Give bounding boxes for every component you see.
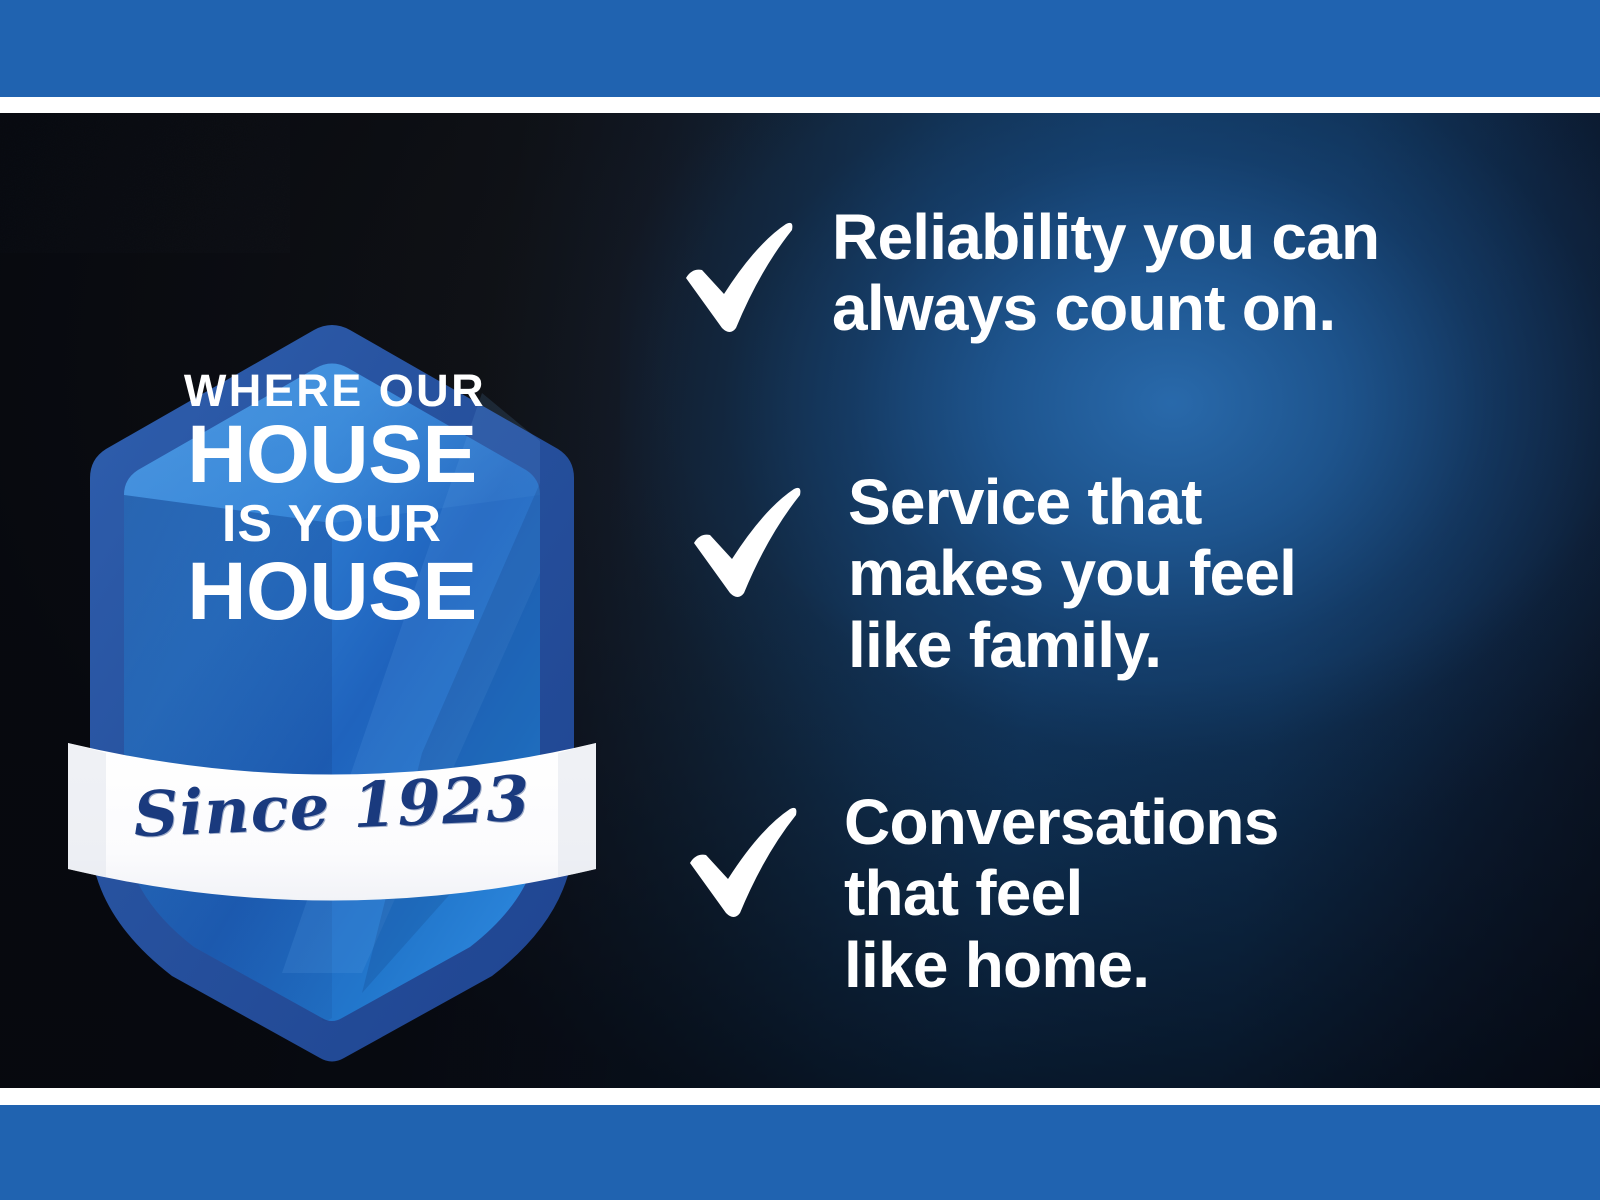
poster-stage: Where our House is your House Since 1923… [0, 113, 1600, 1088]
brand-bar-bottom [0, 1105, 1600, 1200]
divider-top [0, 97, 1600, 113]
divider-bottom [0, 1088, 1600, 1105]
check-icon [676, 483, 804, 601]
promo-poster: Where our House is your House Since 1923… [0, 0, 1600, 1200]
shield-ribbon-shadow-left [68, 743, 106, 877]
shield-ribbon-shadow-right [558, 743, 596, 877]
list-item-label: Service that makes you feel like family. [848, 467, 1296, 681]
list-item: Conversations that feel like home. [672, 793, 1279, 1001]
list-item-label: Reliability you can always count on. [832, 202, 1379, 345]
list-item: Service that makes you feel like family. [676, 473, 1296, 681]
list-item-label: Conversations that feel like home. [844, 787, 1279, 1001]
check-icon [672, 803, 800, 921]
shield-emblem: Where our House is your House Since 1923 [62, 273, 602, 1063]
check-icon [668, 218, 796, 336]
brand-bar-top [0, 0, 1600, 97]
background-grain-texture [0, 113, 290, 253]
list-item: Reliability you can always count on. [668, 208, 1379, 345]
